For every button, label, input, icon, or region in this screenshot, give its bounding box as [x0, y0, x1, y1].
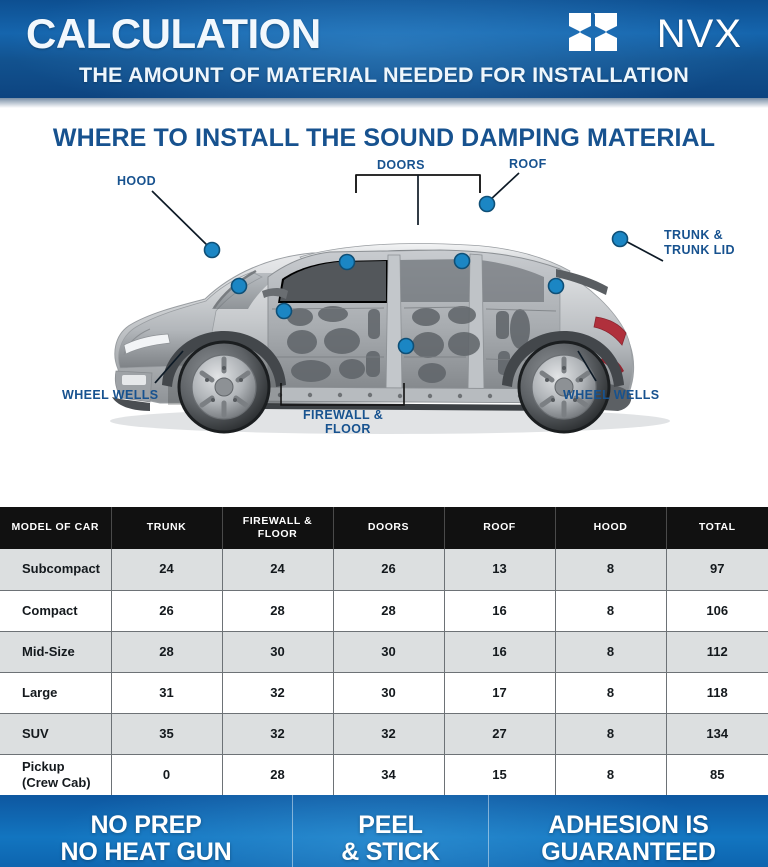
table-row: Pickup (Crew Cab) 0 28 34 15 8 85	[0, 754, 768, 795]
rear-wheel	[518, 341, 610, 433]
callout-label-firewall-line2: FLOOR	[325, 422, 371, 436]
callout-label-roof: ROOF	[509, 159, 547, 171]
column-header-model-line1: MODEL OF CAR	[12, 521, 100, 533]
cell-model: Compact	[0, 590, 111, 631]
cell-model-text: Large	[22, 685, 57, 700]
cell-roof: 13	[444, 549, 555, 590]
cell-doors: 30	[333, 631, 444, 672]
footer-panel-2-line1: PEEL	[358, 812, 423, 839]
cell-total: 118	[666, 672, 768, 713]
cell-doors: 32	[333, 713, 444, 754]
front-wheel	[178, 341, 270, 433]
column-header-doors-line1: DOORS	[368, 521, 409, 533]
marker-front-fender	[232, 279, 247, 294]
cell-hood: 8	[555, 672, 666, 713]
nvx-logo: NVX	[567, 10, 746, 59]
cell-model-text: Compact	[22, 603, 78, 618]
footer-panel-no-prep: NO PREP NO HEAT GUN	[0, 795, 292, 867]
marker-hood	[205, 243, 220, 258]
column-header-trunk: TRUNK	[111, 507, 222, 549]
cell-roof: 16	[444, 631, 555, 672]
cell-doors: 34	[333, 754, 444, 795]
footer-panel-1-line2: NO HEAT GUN	[61, 839, 232, 866]
cell-trunk: 31	[111, 672, 222, 713]
nvx-hourglass-icon	[567, 10, 659, 59]
footer-panel-1-line1: NO PREP	[90, 812, 201, 839]
cell-hood: 8	[555, 754, 666, 795]
callout-label-wheelwells-rear: WHEEL WELLS	[563, 388, 660, 402]
header-shadow	[0, 98, 768, 108]
cell-model-text: Subcompact	[22, 561, 100, 576]
cell-model: Large	[0, 672, 111, 713]
header-top-row: CALCULATION NVX	[0, 0, 768, 62]
table-row: Subcompact 24 24 26 13 8 97	[0, 549, 768, 590]
column-header-roof: ROOF	[444, 507, 555, 549]
section-title: WHERE TO INSTALL THE SOUND DAMPING MATER…	[0, 108, 768, 159]
c-pillar	[468, 254, 484, 391]
cell-firewall: 32	[222, 713, 333, 754]
cell-trunk: 24	[111, 549, 222, 590]
callout-label-wheelwells-front: WHEEL WELLS	[62, 388, 159, 402]
marker-rear-quarter	[549, 279, 564, 294]
material-table: MODEL OF CAR TRUNK FIREWALL & FLOOR DOOR…	[0, 507, 768, 795]
cell-total: 134	[666, 713, 768, 754]
cell-roof: 17	[444, 672, 555, 713]
fog-light	[122, 375, 146, 385]
callout-label-trunk-line2: TRUNK LID	[664, 243, 735, 257]
cell-trunk: 26	[111, 590, 222, 631]
marker-trunk	[613, 232, 628, 247]
marker-rear-door	[455, 254, 470, 269]
b-pillar	[386, 255, 402, 391]
column-header-hood-line1: HOOD	[594, 521, 628, 533]
cell-roof: 27	[444, 713, 555, 754]
callout-label-doors: DOORS	[377, 159, 425, 172]
column-header-roof-line1: ROOF	[483, 521, 516, 533]
cell-firewall: 32	[222, 672, 333, 713]
cell-model: SUV	[0, 713, 111, 754]
cell-hood: 8	[555, 631, 666, 672]
column-header-doors: DOORS	[333, 507, 444, 549]
column-header-firewall-line2: FLOOR	[258, 528, 298, 540]
table-header: MODEL OF CAR TRUNK FIREWALL & FLOOR DOOR…	[0, 507, 768, 549]
cell-doors: 26	[333, 549, 444, 590]
callout-label-trunk-line1: TRUNK &	[664, 228, 723, 242]
cell-total: 112	[666, 631, 768, 672]
cell-trunk: 28	[111, 631, 222, 672]
column-header-hood: HOOD	[555, 507, 666, 549]
vehicle-diagram: HOOD DOORS ROOF TRUNK & TRUNK LID WHEEL …	[0, 159, 768, 507]
infographic-page: CALCULATION NVX T	[0, 0, 768, 867]
marker-roof	[480, 197, 495, 212]
leader-roof	[489, 173, 519, 201]
marker-floor	[399, 339, 414, 354]
marker-front-door	[340, 255, 355, 270]
table-row: Mid-Size 28 30 30 16 8 112	[0, 631, 768, 672]
cell-firewall: 30	[222, 631, 333, 672]
cell-hood: 8	[555, 549, 666, 590]
table-row: Compact 26 28 28 16 8 106	[0, 590, 768, 631]
cell-model-text: Pickup	[22, 759, 65, 774]
cell-trunk: 35	[111, 713, 222, 754]
marker-firewall	[277, 304, 292, 319]
table-row: Large 31 32 30 17 8 118	[0, 672, 768, 713]
column-header-total: TOTAL	[666, 507, 768, 549]
cell-model-subtext: (Crew Cab)	[22, 775, 91, 790]
footer-panel-2-line2: & STICK	[341, 839, 440, 866]
callout-label-hood: HOOD	[117, 174, 156, 188]
material-table-wrapper: MODEL OF CAR TRUNK FIREWALL & FLOOR DOOR…	[0, 507, 768, 795]
cell-doors: 30	[333, 672, 444, 713]
cell-hood: 8	[555, 590, 666, 631]
cell-total: 85	[666, 754, 768, 795]
cell-model: Subcompact	[0, 549, 111, 590]
cell-firewall: 28	[222, 754, 333, 795]
cell-trunk: 0	[111, 754, 222, 795]
cell-model-text: Mid-Size	[22, 644, 75, 659]
cell-hood: 8	[555, 713, 666, 754]
column-header-model: MODEL OF CAR	[0, 507, 111, 549]
footer-panel-3-line1: ADHESION IS	[548, 812, 708, 839]
cell-model-text: SUV	[22, 726, 49, 741]
cell-roof: 16	[444, 590, 555, 631]
cell-doors: 28	[333, 590, 444, 631]
table-header-row: MODEL OF CAR TRUNK FIREWALL & FLOOR DOOR…	[0, 507, 768, 549]
column-header-firewall-line1: FIREWALL &	[243, 515, 312, 527]
vehicle-diagram-svg: HOOD DOORS ROOF TRUNK & TRUNK LID WHEEL …	[0, 159, 768, 507]
page-title: CALCULATION	[26, 13, 321, 55]
cell-roof: 15	[444, 754, 555, 795]
callout-label-firewall-line1: FIREWALL &	[303, 408, 383, 422]
cell-firewall: 28	[222, 590, 333, 631]
nvx-logo-text: NVX	[657, 14, 742, 54]
cell-firewall: 24	[222, 549, 333, 590]
column-header-trunk-line1: TRUNK	[147, 521, 187, 533]
footer-panel-adhesion: ADHESION IS GUARANTEED	[488, 795, 768, 867]
cell-model: Mid-Size	[0, 631, 111, 672]
cell-total: 97	[666, 549, 768, 590]
cell-model: Pickup (Crew Cab)	[0, 754, 111, 795]
footer-panel-3-line2: GUARANTEED	[541, 839, 715, 866]
table-row: SUV 35 32 32 27 8 134	[0, 713, 768, 754]
header-subtitle: THE AMOUNT OF MATERIAL NEEDED FOR INSTAL…	[0, 62, 768, 88]
leader-hood	[152, 191, 209, 247]
footer-panel-peel-stick: PEEL & STICK	[292, 795, 488, 867]
page-header: CALCULATION NVX T	[0, 0, 768, 98]
page-footer: NO PREP NO HEAT GUN PEEL & STICK ADHESIO…	[0, 795, 768, 867]
table-body: Subcompact 24 24 26 13 8 97 Compact 26 2…	[0, 549, 768, 795]
column-header-firewall: FIREWALL & FLOOR	[222, 507, 333, 549]
column-header-total-line1: TOTAL	[699, 521, 736, 533]
cell-total: 106	[666, 590, 768, 631]
